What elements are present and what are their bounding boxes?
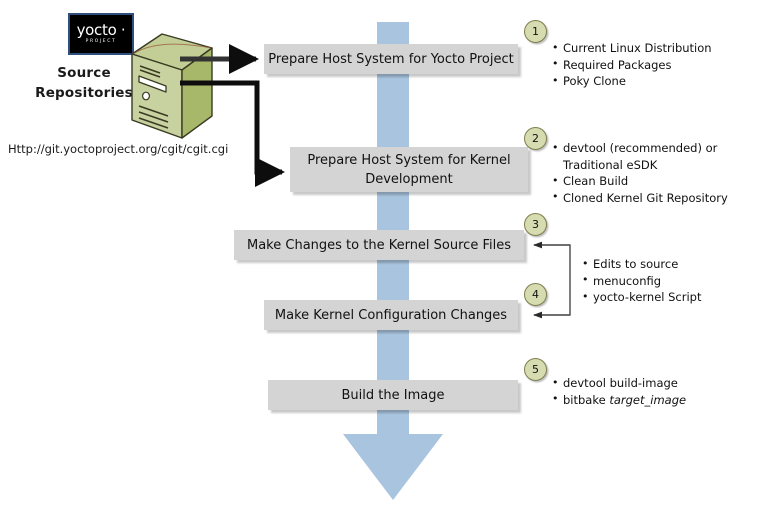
source-repositories-label: Source Repositories	[22, 63, 146, 103]
bitbake-command-prefix: bitbake	[563, 393, 609, 407]
process-box-label: Prepare Host System for Kernel Developme…	[290, 151, 528, 189]
step-number-label: 1	[532, 25, 539, 38]
yocto-logo-sub-text: PROJECT	[86, 40, 117, 45]
list-item: Edits to source	[582, 256, 762, 273]
list-item: devtool build-image	[552, 375, 752, 392]
server-tower-icon	[130, 32, 214, 140]
step2-notes-list: devtool (recommended) or Traditional eSD…	[552, 140, 752, 206]
process-box-build-the-image[interactable]: Build the Image	[268, 380, 518, 410]
step5-notes-list: devtool build-image bitbake target_image	[552, 375, 752, 408]
process-box-make-changes-kernel-source[interactable]: Make Changes to the Kernel Source Files	[234, 230, 524, 260]
step-number-3: 3	[524, 213, 547, 236]
process-box-label: Make Kernel Configuration Changes	[275, 306, 507, 325]
list-item: Poky Clone	[552, 73, 757, 90]
list-item: bitbake target_image	[552, 392, 752, 409]
process-box-make-kernel-config-changes[interactable]: Make Kernel Configuration Changes	[264, 300, 518, 330]
list-item: devtool (recommended) or Traditional eSD…	[552, 140, 752, 173]
step1-notes-list: Current Linux Distribution Required Pack…	[552, 40, 757, 90]
process-box-prepare-host-kernel[interactable]: Prepare Host System for Kernel Developme…	[290, 147, 528, 192]
step-number-5: 5	[524, 358, 547, 381]
source-repository-url: Http://git.yoctoproject.org/cgit/cgit.cg…	[8, 142, 228, 156]
list-item: Clean Build	[552, 173, 752, 190]
process-box-label: Make Changes to the Kernel Source Files	[247, 236, 511, 255]
step-number-label: 2	[532, 132, 539, 145]
process-box-prepare-host-yocto[interactable]: Prepare Host System for Yocto Project	[264, 44, 518, 74]
yocto-logo-main-text: yocto ·	[77, 23, 126, 38]
step-number-label: 4	[532, 288, 539, 301]
list-item: Required Packages	[552, 57, 757, 74]
step-number-label: 5	[532, 363, 539, 376]
source-label-line2: Repositories	[22, 83, 146, 103]
list-item: menuconfig	[582, 273, 762, 290]
step-number-label: 3	[532, 218, 539, 231]
step-number-4: 4	[524, 283, 547, 306]
source-label-line1: Source	[22, 63, 146, 83]
step34-notes-list: Edits to source menuconfig yocto-kernel …	[582, 256, 762, 306]
list-item: Cloned Kernel Git Repository	[552, 190, 752, 207]
process-box-label: Build the Image	[342, 386, 445, 405]
list-item: yocto-kernel Script	[582, 289, 762, 306]
process-box-label: Prepare Host System for Yocto Project	[268, 50, 513, 69]
yocto-project-logo: yocto · PROJECT	[68, 13, 134, 55]
step-number-2: 2	[524, 127, 547, 150]
list-item: Current Linux Distribution	[552, 40, 757, 57]
bitbake-target-image-arg: target_image	[609, 393, 686, 407]
step-number-1: 1	[524, 20, 547, 43]
